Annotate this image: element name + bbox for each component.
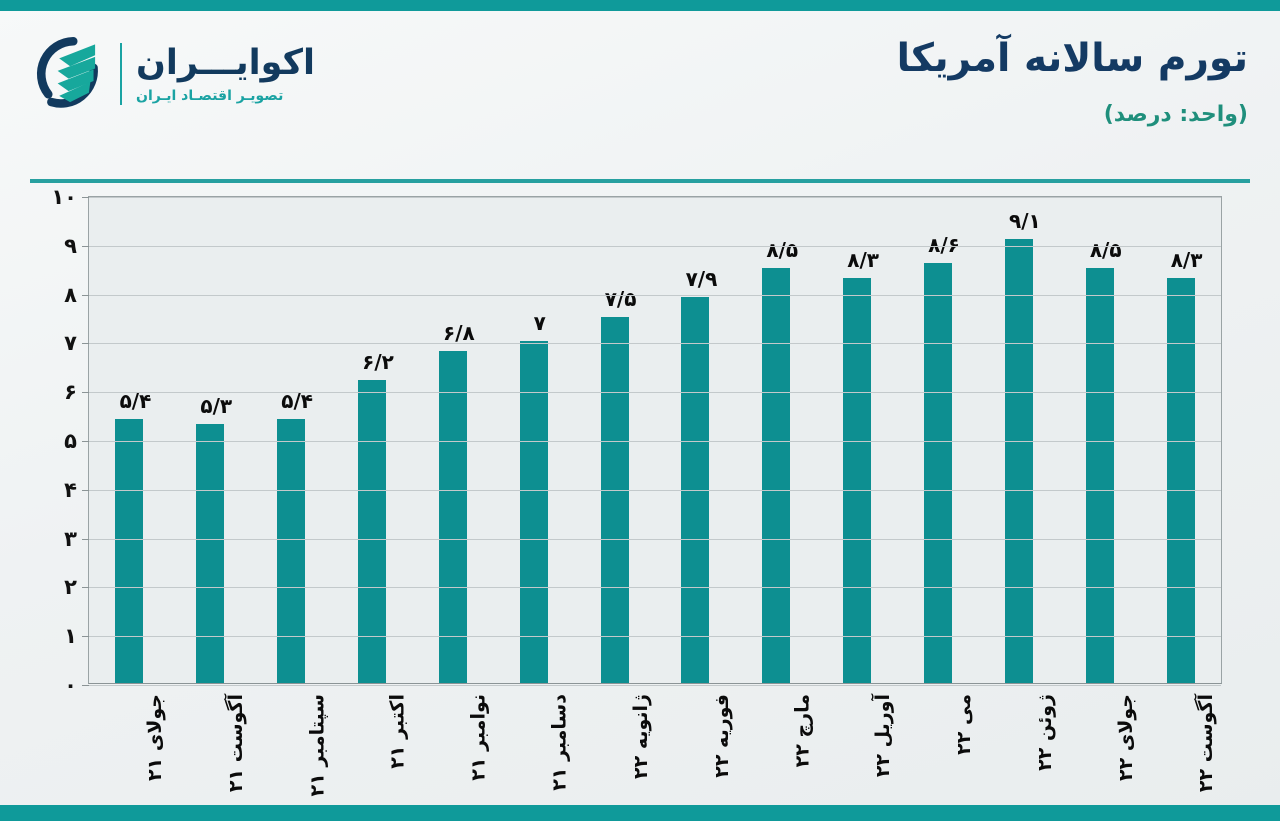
bar-column[interactable]: ۵/۴	[277, 419, 305, 683]
gridline	[89, 539, 1221, 540]
bar[interactable]	[358, 380, 386, 683]
bar-value-label: ۸/۵	[1090, 238, 1122, 262]
bar-column[interactable]: ۸/۶	[924, 263, 952, 683]
bar-column[interactable]: ۸/۳	[843, 278, 871, 683]
gridline	[89, 587, 1221, 588]
gridline	[89, 343, 1221, 344]
x-axis-label: آگوست ۲۲	[1196, 694, 1218, 792]
gridline	[89, 295, 1221, 296]
bar[interactable]	[439, 351, 467, 683]
header-divider	[30, 179, 1250, 183]
y-axis-tick-mark	[82, 392, 89, 393]
x-axis-label: ژوئن ۲۲	[1034, 694, 1056, 771]
bar[interactable]	[277, 419, 305, 683]
bar[interactable]	[601, 317, 629, 683]
y-axis-tick-label: ۶	[64, 380, 77, 404]
y-axis-tick-mark	[82, 441, 89, 442]
bar-value-label: ۸/۳	[1171, 248, 1203, 272]
gridline	[89, 392, 1221, 393]
bar[interactable]	[196, 424, 224, 683]
y-axis-tick-label: ۷	[64, 331, 77, 355]
x-axis-label: ژانویه ۲۲	[630, 694, 652, 779]
logo-divider	[120, 43, 122, 105]
x-axis-label: جولای ۲۲	[1115, 694, 1137, 781]
y-axis-tick-label: ۱	[64, 624, 77, 648]
bar-value-label: ۹/۱	[1009, 209, 1041, 233]
eco-iran-swoosh-logo-icon	[28, 35, 106, 113]
bar[interactable]	[1086, 268, 1114, 683]
x-axis-label: اکتبر ۲۱	[387, 694, 409, 769]
y-axis-tick-label: ۰	[64, 673, 77, 697]
bar-column[interactable]: ۶/۸	[439, 351, 467, 683]
brand-logo-text: اکوایـــران تصویـر اقتصـاد ایـران	[136, 46, 315, 103]
x-axis-label: نوامبر ۲۱	[468, 694, 490, 781]
x-axis-label: آوریل ۲۲	[872, 694, 894, 777]
gridline	[89, 246, 1221, 247]
bar-value-label: ۷/۵	[605, 287, 637, 311]
bar-column[interactable]: ۸/۵	[762, 268, 790, 683]
brand-logo[interactable]: اکوایـــران تصویـر اقتصـاد ایـران	[28, 35, 315, 113]
bar[interactable]	[843, 278, 871, 683]
bar-value-label: ۶/۲	[362, 350, 394, 374]
bar-column[interactable]: ۵/۳	[196, 424, 224, 683]
bar-column[interactable]: ۸/۳	[1167, 278, 1195, 683]
bar-value-label: ۸/۵	[766, 238, 798, 262]
x-axis-label: دسامبر ۲۱	[549, 694, 571, 791]
bar-column[interactable]: ۷/۵	[601, 317, 629, 683]
x-axis-label: می ۲۲	[953, 694, 975, 755]
bar[interactable]	[1005, 239, 1033, 683]
y-axis-tick-label: ۳	[64, 527, 77, 551]
bar-column[interactable]: ۹/۱	[1005, 239, 1033, 683]
page-root: اکوایـــران تصویـر اقتصـاد ایـران تورم س…	[0, 0, 1280, 821]
y-axis-tick-mark	[82, 636, 89, 637]
bars-layer: ۵/۴۵/۳۵/۴۶/۲۶/۸۷۷/۵۷/۹۸/۵۸/۳۸/۶۹/۱۸/۵۸/۳	[89, 197, 1221, 683]
bottom-accent-bar	[0, 805, 1280, 821]
x-axis-label: مارچ ۲۲	[791, 694, 813, 767]
gridline	[89, 636, 1221, 637]
bar-value-label: ۷/۹	[686, 267, 718, 291]
gridline	[89, 441, 1221, 442]
y-axis-tick-label: ۸	[64, 283, 77, 307]
page-subtitle: (واحد: درصد)	[897, 102, 1248, 127]
y-axis-tick-mark	[82, 587, 89, 588]
y-axis-tick-mark	[82, 490, 89, 491]
y-axis-tick-mark	[82, 685, 89, 686]
gridline	[89, 490, 1221, 491]
gridline	[89, 197, 1221, 198]
page-title: تورم سالانه آمریکا	[897, 37, 1248, 82]
x-axis-label: جولای ۲۱	[144, 694, 166, 781]
bar-value-label: ۶/۸	[443, 321, 475, 345]
bar-column[interactable]: ۸/۵	[1086, 268, 1114, 683]
y-axis-tick-mark	[82, 539, 89, 540]
bar-value-label: ۸/۳	[847, 248, 879, 272]
y-axis-tick-mark	[82, 197, 89, 198]
x-axis-labels: جولای ۲۱آگوست ۲۱سپتامبر ۲۱اکتبر ۲۱نوامبر…	[88, 690, 1222, 820]
bar-column[interactable]: ۵/۴	[115, 419, 143, 683]
title-block: تورم سالانه آمریکا (واحد: درصد)	[897, 37, 1248, 127]
y-axis-tick-label: ۱۰	[51, 185, 77, 209]
y-axis-tick-label: ۹	[64, 234, 77, 258]
brand-tagline: تصویـر اقتصـاد ایـران	[136, 89, 283, 103]
gridline	[89, 685, 1221, 686]
x-axis-label: آگوست ۲۱	[225, 694, 247, 792]
bar[interactable]	[115, 419, 143, 683]
bar[interactable]	[1167, 278, 1195, 683]
y-axis-tick-mark	[82, 343, 89, 344]
y-axis-tick-mark	[82, 246, 89, 247]
bar-value-label: ۷	[534, 311, 546, 335]
y-axis-tick-label: ۴	[64, 478, 77, 502]
bar-value-label: ۵/۳	[200, 394, 232, 418]
page-header: اکوایـــران تصویـر اقتصـاد ایـران تورم س…	[0, 11, 1280, 171]
bar-column[interactable]: ۶/۲	[358, 380, 386, 683]
plot-area: ۵/۴۵/۳۵/۴۶/۲۶/۸۷۷/۵۷/۹۸/۵۸/۳۸/۶۹/۱۸/۵۸/۳…	[88, 196, 1222, 684]
x-axis-label: فوریه ۲۲	[710, 694, 732, 778]
brand-name: اکوایـــران	[136, 46, 315, 81]
top-accent-bar	[0, 0, 1280, 11]
bar[interactable]	[924, 263, 952, 683]
y-axis-tick-mark	[82, 295, 89, 296]
x-axis-label: سپتامبر ۲۱	[306, 694, 328, 797]
y-axis-tick-label: ۵	[64, 429, 77, 453]
y-axis-tick-label: ۲	[64, 575, 77, 599]
chart-container: ۵/۴۵/۳۵/۴۶/۲۶/۸۷۷/۵۷/۹۸/۵۸/۳۸/۶۹/۱۸/۵۸/۳…	[0, 190, 1280, 805]
bar[interactable]	[762, 268, 790, 683]
